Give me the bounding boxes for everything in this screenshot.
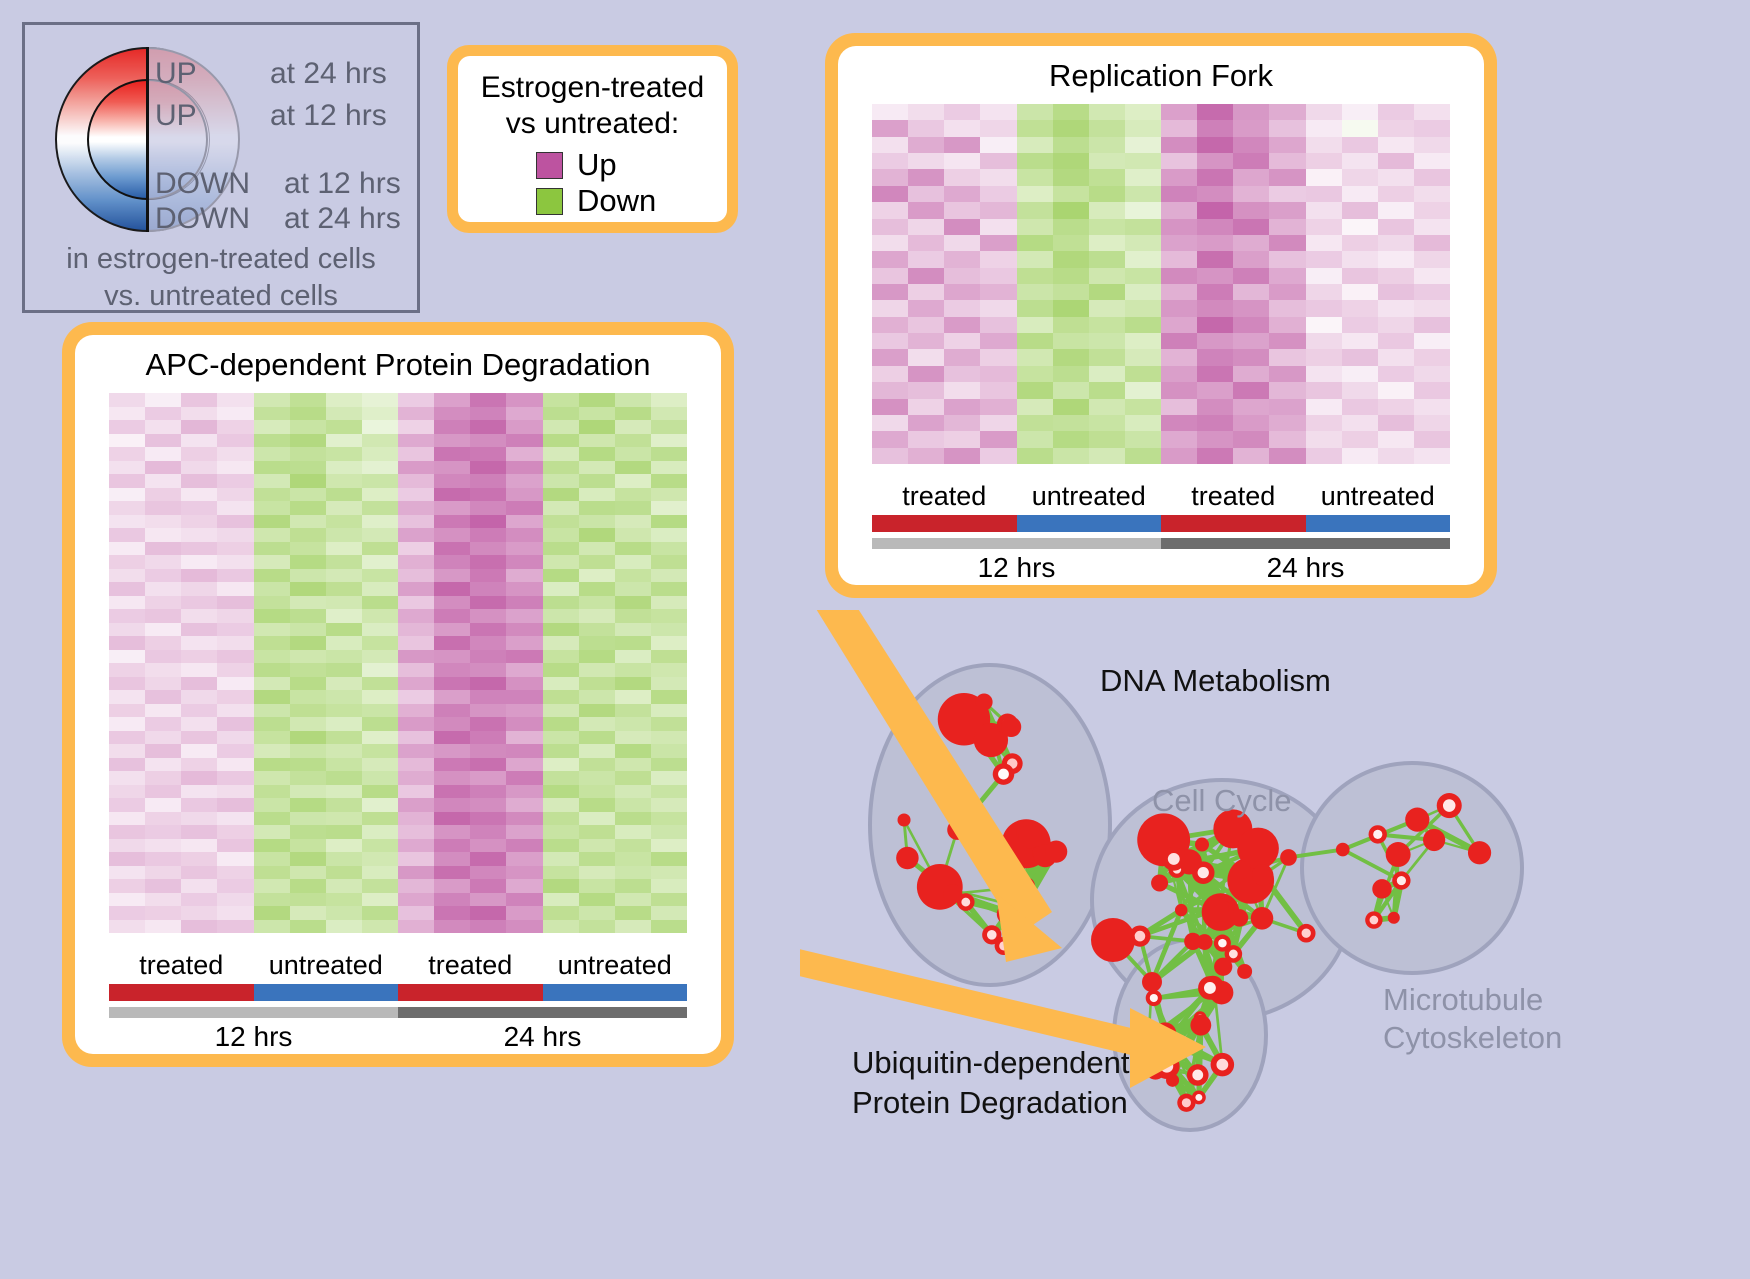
heatmap-cell <box>1269 366 1305 382</box>
heatmap-cell <box>290 717 326 731</box>
heatmap-cell <box>254 663 290 677</box>
heatmap-cell <box>872 317 908 333</box>
heatmap-cell <box>362 771 398 785</box>
heatmap-cell <box>290 420 326 434</box>
heatmap-cell <box>1269 104 1305 120</box>
time-label-24hrs: 24 hrs <box>398 1020 687 1054</box>
heatmap-cell <box>579 650 615 664</box>
panel-replication-fork-inner: Replication Fork treated untreated treat… <box>838 46 1484 585</box>
heatmap-cell <box>1017 137 1053 153</box>
heatmap-cell <box>109 879 145 893</box>
heatmap-cell <box>109 569 145 583</box>
heatmap-cell <box>543 758 579 772</box>
heatmap-cell <box>1053 235 1089 251</box>
heatmap-cell <box>362 555 398 569</box>
network-node <box>1372 879 1391 898</box>
heatmap-cell <box>1161 300 1197 316</box>
heatmap-cell <box>980 219 1016 235</box>
heatmap-cell <box>1197 333 1233 349</box>
heatmap-cell <box>470 636 506 650</box>
heatmap-cell <box>109 852 145 866</box>
heatmap-cell <box>398 528 434 542</box>
heatmap-cell <box>543 663 579 677</box>
heatmap-cell <box>398 866 434 880</box>
heatmap-cell <box>326 528 362 542</box>
heatmap-cell <box>506 447 542 461</box>
heatmap-cell <box>434 731 470 745</box>
sample-label-3: untreated <box>543 949 688 981</box>
heatmap-cell <box>254 623 290 637</box>
wheel-divider <box>146 47 149 232</box>
heatmap-cell <box>872 448 908 464</box>
heatmap-cell <box>1414 202 1450 218</box>
sample-bar-segment <box>254 984 399 1001</box>
heatmap-cell <box>290 852 326 866</box>
heatmap-cell <box>944 120 980 136</box>
heatmap-cell <box>1269 399 1305 415</box>
heatmap-cell <box>1342 153 1378 169</box>
sample-label-1: untreated <box>254 949 399 981</box>
heatmap-cell <box>254 569 290 583</box>
heatmap-cell <box>1269 235 1305 251</box>
heatmap-cell <box>872 300 908 316</box>
colour-wheel-legend: UP at 24 hrs UP at 12 hrs DOWN at 12 hrs… <box>22 22 420 313</box>
heatmap-cell <box>470 488 506 502</box>
heatmap-cell <box>109 393 145 407</box>
network-node <box>1211 1053 1235 1077</box>
heatmap-cell <box>326 650 362 664</box>
heatmap-cell <box>615 920 651 934</box>
heatmap-cell <box>1233 120 1269 136</box>
heatmap-cell <box>980 349 1016 365</box>
heatmap-cell <box>1233 235 1269 251</box>
heatmap-cell <box>543 582 579 596</box>
heatmap-cell <box>398 906 434 920</box>
heatmap-cell <box>181 569 217 583</box>
heatmap-cell <box>109 650 145 664</box>
heatmap-cell <box>651 488 687 502</box>
heatmap-cell <box>1233 448 1269 464</box>
heatmap-cell <box>579 663 615 677</box>
heatmap-cell <box>109 920 145 934</box>
heatmap-cell <box>470 663 506 677</box>
heatmap-cell <box>1378 268 1414 284</box>
heatmap-cell <box>290 704 326 718</box>
heatmap-cell <box>217 407 253 421</box>
heatmap-cell <box>181 596 217 610</box>
heatmap-cell <box>181 744 217 758</box>
heatmap-cell <box>1197 448 1233 464</box>
heatmap-cell <box>254 731 290 745</box>
heatmap-cell <box>362 717 398 731</box>
wheel-time-up-24: at 24 hrs <box>270 57 387 91</box>
heatmap-cell <box>145 866 181 880</box>
heatmap-replication-fork <box>872 104 1450 464</box>
heatmap-cell <box>326 488 362 502</box>
heatmap-cell <box>290 825 326 839</box>
heatmap-cell <box>109 731 145 745</box>
heatmap-cell <box>1342 333 1378 349</box>
heatmap-cell <box>1197 382 1233 398</box>
heatmap-cell <box>615 690 651 704</box>
heatmap-cell <box>1233 284 1269 300</box>
network-node <box>1369 825 1387 843</box>
heatmap-cell <box>326 812 362 826</box>
heatmap-cell <box>254 677 290 691</box>
node-outer <box>1251 907 1274 930</box>
heatmap-cell <box>1306 284 1342 300</box>
network-node <box>1297 924 1316 943</box>
network-node <box>1232 861 1250 879</box>
heatmap-cell <box>1125 104 1161 120</box>
heatmap-cell <box>181 582 217 596</box>
heatmap-cell <box>470 582 506 596</box>
heatmap-cell <box>362 596 398 610</box>
heatmap-cell <box>543 677 579 691</box>
network-node <box>1001 717 1021 737</box>
heatmap-cell <box>362 542 398 556</box>
heatmap-cell <box>615 879 651 893</box>
time-colorbar-apc <box>109 1007 687 1018</box>
heatmap-cell <box>1269 415 1305 431</box>
heatmap-cell <box>362 569 398 583</box>
heatmap-cell <box>109 461 145 475</box>
heatmap-cell <box>398 852 434 866</box>
heatmap-cell <box>145 771 181 785</box>
heatmap-cell <box>1378 349 1414 365</box>
heatmap-cell <box>362 920 398 934</box>
heatmap-cell <box>1233 300 1269 316</box>
heatmap-cell <box>290 920 326 934</box>
heatmap-cell <box>872 153 908 169</box>
heatmap-cell <box>217 569 253 583</box>
heatmap-cell <box>1306 300 1342 316</box>
heatmap-cell <box>1161 104 1197 120</box>
heatmap-cell <box>1233 104 1269 120</box>
heatmap-cell <box>217 555 253 569</box>
node-outer <box>1204 897 1229 922</box>
heatmap-cell <box>506 636 542 650</box>
heatmap-cell <box>109 528 145 542</box>
heatmap-cell <box>470 677 506 691</box>
sample-colorbar-apc <box>109 984 687 1001</box>
heatmap-cell <box>506 825 542 839</box>
heatmap-cell <box>181 758 217 772</box>
heatmap-cell <box>470 785 506 799</box>
heatmap-cell <box>1378 284 1414 300</box>
heatmap-cell <box>434 501 470 515</box>
heatmap-cell <box>908 349 944 365</box>
network-node <box>1336 843 1350 857</box>
heatmap-cell <box>145 528 181 542</box>
heatmap-cell <box>254 812 290 826</box>
heatmap-cell <box>434 609 470 623</box>
heatmap-cell <box>1378 235 1414 251</box>
heatmap-cell <box>217 744 253 758</box>
heatmap-cell <box>1053 186 1089 202</box>
heatmap-cell <box>543 488 579 502</box>
heatmap-cell <box>470 420 506 434</box>
heatmap-cell <box>434 893 470 907</box>
heatmap-cell <box>217 798 253 812</box>
heatmap-cell <box>872 137 908 153</box>
heatmap-cell <box>470 879 506 893</box>
heatmap-cell <box>944 284 980 300</box>
wheel-key-up-12: UP <box>155 99 197 133</box>
heatmap-cell <box>470 515 506 529</box>
heatmap-cell <box>543 542 579 556</box>
heatmap-cell <box>1233 333 1269 349</box>
heatmap-cell <box>109 434 145 448</box>
heatmap-cell <box>470 609 506 623</box>
heatmap-cell <box>1269 448 1305 464</box>
heatmap-cell <box>615 663 651 677</box>
heatmap-cell <box>1269 202 1305 218</box>
heatmap-cell <box>362 879 398 893</box>
network-node <box>1187 1064 1209 1086</box>
heatmap-cell <box>579 906 615 920</box>
heatmap-cell <box>434 650 470 664</box>
time-colorbar-replication-fork <box>872 538 1450 549</box>
heatmap-cell <box>651 852 687 866</box>
heatmap-cell <box>470 650 506 664</box>
node-inner <box>1229 950 1238 959</box>
heatmap-cell <box>470 393 506 407</box>
heatmap-cell <box>872 169 908 185</box>
heatmap-cell <box>1089 104 1125 120</box>
heatmap-cell <box>1342 235 1378 251</box>
heatmap-cell <box>145 704 181 718</box>
heatmap-cell <box>470 704 506 718</box>
heatmap-cell <box>1125 235 1161 251</box>
heatmap-cell <box>1197 219 1233 235</box>
sample-bar-segment <box>1161 515 1306 532</box>
heatmap-cell <box>1089 219 1125 235</box>
heatmap-cell <box>434 596 470 610</box>
heatmap-cell <box>398 461 434 475</box>
heatmap-cell <box>1233 317 1269 333</box>
heatmap-cell <box>506 879 542 893</box>
heatmap-cell <box>398 920 434 934</box>
figure-root: UP at 24 hrs UP at 12 hrs DOWN at 12 hrs… <box>0 0 1750 1279</box>
heatmap-cell <box>1089 333 1125 349</box>
heatmap-cell <box>1378 219 1414 235</box>
heatmap-cell <box>944 333 980 349</box>
heatmap-cell <box>145 447 181 461</box>
heatmap-cell <box>181 663 217 677</box>
heatmap-cell <box>181 677 217 691</box>
heatmap-cell <box>872 415 908 431</box>
heatmap-cell <box>326 906 362 920</box>
heatmap-cell <box>543 447 579 461</box>
heatmap-cell <box>1378 169 1414 185</box>
heatmap-cell <box>109 839 145 853</box>
heatmap-cell <box>326 771 362 785</box>
heatmap-cell <box>470 461 506 475</box>
sample-strip-replication-fork: treated untreated treated untreated 12 h… <box>872 480 1450 585</box>
heatmap-cell <box>1306 251 1342 267</box>
heatmap-cell <box>1306 137 1342 153</box>
node-outer <box>943 884 962 903</box>
heatmap-cell <box>651 839 687 853</box>
heatmap-cell <box>1125 317 1161 333</box>
heatmap-cell <box>254 515 290 529</box>
heatmap-cell <box>145 825 181 839</box>
heatmap-cell <box>1089 382 1125 398</box>
heatmap-cell <box>1414 333 1450 349</box>
heatmap-cell <box>1089 268 1125 284</box>
heatmap-cell <box>579 555 615 569</box>
node-outer <box>1232 861 1250 879</box>
network-node <box>993 763 1015 785</box>
heatmap-cell <box>1197 235 1233 251</box>
heatmap-cell <box>506 434 542 448</box>
heatmap-cell <box>470 731 506 745</box>
heatmap-cell <box>1125 153 1161 169</box>
heatmap-cell <box>980 317 1016 333</box>
heatmap-cell <box>944 366 980 382</box>
updown-legend-inner: Estrogen-treated vs untreated: Up Down <box>458 56 727 222</box>
heatmap-cell <box>651 569 687 583</box>
heatmap-cell <box>1342 186 1378 202</box>
heatmap-cell <box>1414 366 1450 382</box>
heatmap-cell <box>908 317 944 333</box>
heatmap-cell <box>908 202 944 218</box>
heatmap-cell <box>944 202 980 218</box>
heatmap-cell <box>1233 202 1269 218</box>
heatmap-cell <box>362 528 398 542</box>
node-outer <box>1142 972 1162 992</box>
heatmap-cell <box>181 515 217 529</box>
heatmap-cell <box>506 744 542 758</box>
down-swatch-icon <box>536 188 563 215</box>
heatmap-cell <box>543 798 579 812</box>
heatmap-cell <box>145 407 181 421</box>
heatmap-cell <box>908 366 944 382</box>
heatmap-cell <box>1017 317 1053 333</box>
heatmap-cell <box>1378 153 1414 169</box>
heatmap-cell <box>470 407 506 421</box>
heatmap-cell <box>1197 268 1233 284</box>
heatmap-cell <box>470 798 506 812</box>
heatmap-cell <box>145 906 181 920</box>
heatmap-cell <box>651 758 687 772</box>
cluster-label-microtubule: Microtubule Cytoskeleton <box>1383 981 1562 1057</box>
heatmap-cell <box>872 202 908 218</box>
heatmap-cell <box>326 866 362 880</box>
heatmap-cell <box>615 704 651 718</box>
heatmap-cell <box>944 169 980 185</box>
heatmap-cell <box>326 461 362 475</box>
heatmap-cell <box>290 474 326 488</box>
heatmap-cell <box>506 474 542 488</box>
heatmap-cell <box>217 906 253 920</box>
heatmap-cell <box>1017 120 1053 136</box>
heatmap-cell <box>579 609 615 623</box>
heatmap-cell <box>1161 153 1197 169</box>
heatmap-cell <box>254 434 290 448</box>
heatmap-cell <box>326 731 362 745</box>
heatmap-cell <box>290 555 326 569</box>
heatmap-cell <box>506 812 542 826</box>
heatmap-cell <box>615 542 651 556</box>
heatmap-cell <box>506 758 542 772</box>
heatmap-cell <box>543 407 579 421</box>
heatmap-cell <box>615 893 651 907</box>
node-outer <box>976 694 993 711</box>
heatmap-cell <box>181 474 217 488</box>
heatmap-cell <box>506 650 542 664</box>
heatmap-cell <box>326 704 362 718</box>
heatmap-cell <box>944 300 980 316</box>
heatmap-cell <box>1017 399 1053 415</box>
heatmap-cell <box>579 596 615 610</box>
heatmap-cell <box>290 434 326 448</box>
heatmap-cell <box>1342 169 1378 185</box>
heatmap-cell <box>615 582 651 596</box>
heatmap-cell <box>615 731 651 745</box>
heatmap-cell <box>326 407 362 421</box>
heatmap-cell <box>615 636 651 650</box>
heatmap-cell <box>543 596 579 610</box>
heatmap-cell <box>1269 431 1305 447</box>
heatmap-cell <box>1017 284 1053 300</box>
heatmap-cell <box>254 771 290 785</box>
heatmap-cell <box>326 744 362 758</box>
heatmap-cell <box>290 839 326 853</box>
node-inner <box>1216 1059 1228 1071</box>
heatmap-cell <box>506 704 542 718</box>
heatmap-cell <box>326 501 362 515</box>
heatmap-cell <box>398 731 434 745</box>
heatmap-cell <box>145 596 181 610</box>
heatmap-cell <box>579 407 615 421</box>
cluster-label-cell-cycle: Cell Cycle <box>1152 783 1292 819</box>
heatmap-cell <box>1161 251 1197 267</box>
heatmap-cell <box>651 650 687 664</box>
network-node <box>943 884 962 903</box>
heatmap-cell <box>579 542 615 556</box>
network-node <box>1198 976 1222 1000</box>
heatmap-cell <box>944 349 980 365</box>
heatmap-cell <box>615 488 651 502</box>
heatmap-cell <box>434 704 470 718</box>
heatmap-cell <box>398 609 434 623</box>
heatmap-cell <box>944 399 980 415</box>
heatmap-cell <box>506 690 542 704</box>
heatmap-cell <box>290 893 326 907</box>
node-outer <box>1045 840 1067 862</box>
heatmap-cell <box>543 474 579 488</box>
heatmap-cell <box>1125 366 1161 382</box>
heatmap-cell <box>1161 219 1197 235</box>
network-node <box>897 813 910 826</box>
heatmap-cell <box>1306 317 1342 333</box>
heatmap-cell <box>615 771 651 785</box>
heatmap-cell <box>1053 219 1089 235</box>
heatmap-cell <box>579 690 615 704</box>
node-outer <box>1336 843 1350 857</box>
heatmap-cell <box>362 515 398 529</box>
node-outer <box>1175 904 1187 916</box>
heatmap-cell <box>434 488 470 502</box>
wheel-time-down-12: at 12 hrs <box>284 167 401 201</box>
heatmap-cell <box>145 623 181 637</box>
heatmap-cell <box>181 434 217 448</box>
heatmap-cell <box>1414 284 1450 300</box>
heatmap-cell <box>1306 186 1342 202</box>
heatmap-cell <box>254 636 290 650</box>
